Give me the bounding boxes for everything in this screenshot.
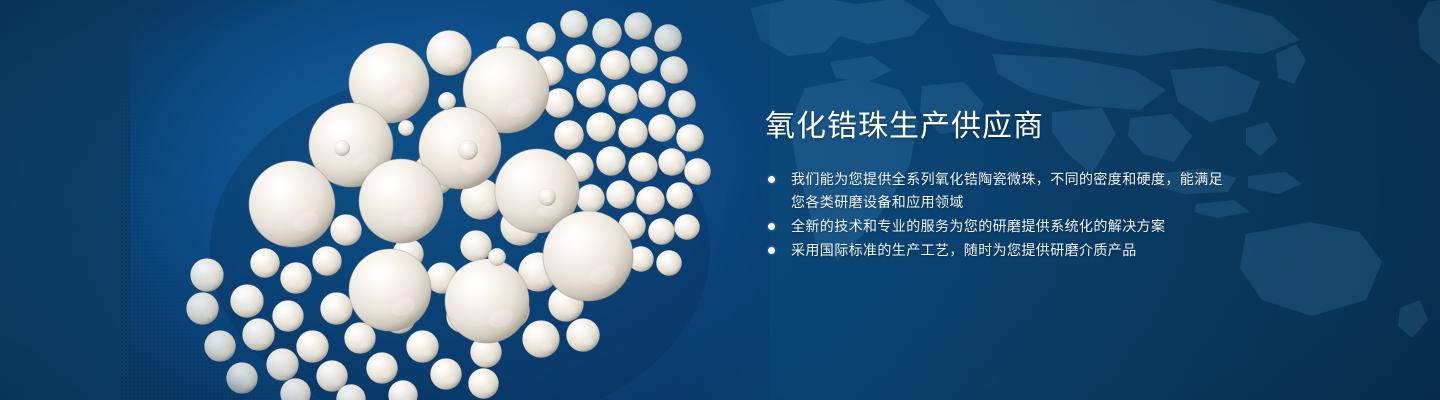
banner-bullet-text: 全新的技术和专业的服务为您的研磨提供系统化的解决方案 <box>791 218 1165 234</box>
banner-headline: 氧化锆珠生产供应商 <box>765 108 1235 146</box>
banner-bullet-item: 采用国际标准的生产工艺，随时为您提供研磨介质产品 <box>765 239 1235 262</box>
banner-bullet-item: 我们能为您提供全系列氧化锆陶瓷微珠，不同的密度和硬度，能满足您各类研磨设备和应用… <box>765 168 1235 214</box>
banner-bullet-text: 采用国际标准的生产工艺，随时为您提供研磨介质产品 <box>791 242 1137 258</box>
banner-bullet-item: 全新的技术和专业的服务为您的研磨提供系统化的解决方案 <box>765 215 1235 238</box>
bullet-circle-icon <box>768 176 775 183</box>
bullet-circle-icon <box>768 223 775 230</box>
bullet-circle-icon <box>768 247 775 254</box>
banner-bullet-list: 我们能为您提供全系列氧化锆陶瓷微珠，不同的密度和硬度，能满足您各类研磨设备和应用… <box>765 168 1235 262</box>
hero-banner: 氧化锆珠生产供应商 我们能为您提供全系列氧化锆陶瓷微珠，不同的密度和硬度，能满足… <box>0 0 1440 400</box>
banner-copy: 氧化锆珠生产供应商 我们能为您提供全系列氧化锆陶瓷微珠，不同的密度和硬度，能满足… <box>765 108 1235 263</box>
banner-bullet-text: 我们能为您提供全系列氧化锆陶瓷微珠，不同的密度和硬度，能满足您各类研磨设备和应用… <box>791 171 1223 210</box>
